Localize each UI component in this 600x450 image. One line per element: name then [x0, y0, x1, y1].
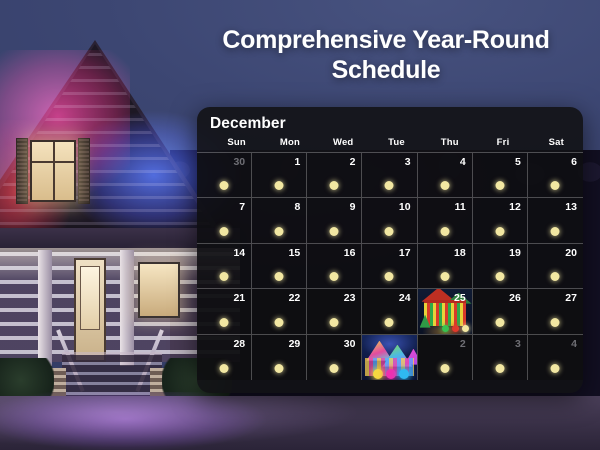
day-number: 3: [405, 156, 411, 168]
schedule-event-dot: [440, 272, 449, 281]
calendar-day-cell[interactable]: 9: [307, 198, 362, 243]
day-number: 21: [233, 292, 245, 304]
calendar-day-cell[interactable]: 10: [362, 198, 417, 243]
schedule-event-dot: [551, 318, 560, 327]
day-number: 22: [289, 292, 301, 304]
day-number: 8: [294, 201, 300, 213]
day-number: 20: [565, 247, 577, 259]
calendar-day-cell[interactable]: 3: [473, 335, 528, 380]
day-number: 15: [289, 247, 301, 259]
upper-window: [30, 140, 76, 202]
schedule-event-dot: [220, 364, 229, 373]
calendar-day-cell[interactable]: 6: [528, 153, 583, 198]
calendar-day-cell[interactable]: 25: [418, 289, 473, 334]
schedule-event-dot: [220, 272, 229, 281]
day-header-fri: Fri: [476, 137, 529, 148]
day-number: 12: [509, 201, 521, 213]
schedule-event-dot: [330, 364, 339, 373]
new-year-house-thumbnail: [362, 335, 416, 380]
xmas-light-green: [442, 325, 449, 332]
schedule-event-dot: [275, 318, 284, 327]
calendar-grid[interactable]: 3012345678910111213141516171819202122232…: [197, 152, 583, 380]
page-title-line-1: Comprehensive Year-Round: [180, 26, 592, 56]
day-number: 3: [515, 338, 521, 350]
schedule-event-dot: [220, 227, 229, 236]
day-header-tue: Tue: [370, 137, 423, 148]
day-number: 18: [454, 247, 466, 259]
calendar-day-cell[interactable]: 29: [252, 335, 307, 380]
calendar-day-cell[interactable]: 2: [418, 335, 473, 380]
day-number: 27: [565, 292, 577, 304]
schedule-event-dot: [440, 227, 449, 236]
day-number: 4: [571, 338, 577, 350]
day-of-week-row: SunMonWedTueThuFriSat: [210, 137, 583, 152]
schedule-event-dot: [275, 364, 284, 373]
xmas-light-red: [452, 325, 459, 332]
day-number: 1: [294, 156, 300, 168]
calendar-day-cell[interactable]: 1: [252, 153, 307, 198]
purple-ground-glow: [0, 392, 330, 450]
schedule-event-dot: [275, 272, 284, 281]
schedule-event-dot: [495, 272, 504, 281]
nye-light-cyan: [399, 369, 409, 379]
lower-window-right: [138, 262, 180, 318]
day-number: 7: [239, 201, 245, 213]
day-header-thu: Thu: [423, 137, 476, 148]
porch-column-right: [120, 250, 134, 366]
calendar-day-cell[interactable]: 28: [197, 335, 252, 380]
day-number: 25: [454, 292, 466, 304]
upper-window-shutter-right: [78, 138, 90, 204]
schedule-event-dot: [275, 181, 284, 190]
day-number: 29: [289, 338, 301, 350]
schedule-event-dot: [330, 181, 339, 190]
calendar-day-cell[interactable]: 27: [528, 289, 583, 334]
calendar-day-cell[interactable]: 24: [362, 289, 417, 334]
calendar-day-cell[interactable]: 18: [418, 244, 473, 289]
calendar-day-cell[interactable]: 14: [197, 244, 252, 289]
schedule-event-dot: [385, 272, 394, 281]
schedule-event-dot: [495, 181, 504, 190]
day-header-sat: Sat: [530, 137, 583, 148]
day-number: 4: [460, 156, 466, 168]
day-number: 5: [515, 156, 521, 168]
day-number: 2: [350, 156, 356, 168]
day-number: 6: [571, 156, 577, 168]
calendar-day-cell[interactable]: 12: [473, 198, 528, 243]
schedule-event-dot: [385, 318, 394, 327]
calendar-day-cell[interactable]: 3: [362, 153, 417, 198]
page-title: Comprehensive Year-Round Schedule: [180, 26, 592, 85]
schedule-event-dot: [551, 181, 560, 190]
calendar-day-cell[interactable]: 4: [528, 335, 583, 380]
schedule-event-dot: [551, 272, 560, 281]
day-number: 30: [344, 338, 356, 350]
schedule-event-dot: [275, 227, 284, 236]
day-number: 17: [399, 247, 411, 259]
calendar-day-cell[interactable]: 19: [473, 244, 528, 289]
nye-light-yellow: [373, 369, 383, 379]
day-number: 24: [399, 292, 411, 304]
calendar-day-cell[interactable]: 13: [528, 198, 583, 243]
calendar-panel[interactable]: December SunMonWedTueThuFriSat 301234567…: [197, 107, 583, 393]
day-number: 10: [399, 201, 411, 213]
calendar-month-label: December: [210, 115, 583, 133]
schedule-event-dot: [330, 227, 339, 236]
calendar-day-cell[interactable]: 30: [197, 153, 252, 198]
calendar-day-cell[interactable]: 7: [197, 198, 252, 243]
day-number: 14: [233, 247, 245, 259]
calendar-day-cell[interactable]: 8: [252, 198, 307, 243]
calendar-day-cell[interactable]: 15: [252, 244, 307, 289]
calendar-day-cell[interactable]: 22: [252, 289, 307, 334]
schedule-event-dot: [385, 181, 394, 190]
day-header-mon: Mon: [263, 137, 316, 148]
schedule-event-dot: [220, 181, 229, 190]
calendar-day-cell[interactable]: 20: [528, 244, 583, 289]
day-number: 2: [460, 338, 466, 350]
upper-window-shutter-left: [16, 138, 28, 204]
xmas-light-cream: [462, 325, 469, 332]
calendar-day-cell[interactable]: 26: [473, 289, 528, 334]
porch-column-left: [38, 250, 52, 366]
calendar-day-cell[interactable]: 16: [307, 244, 362, 289]
day-number: 30: [233, 156, 245, 168]
day-number: 9: [350, 201, 356, 213]
nye-light-magenta: [386, 369, 396, 379]
calendar-day-cell[interactable]: 5: [473, 153, 528, 198]
schedule-event-dot: [495, 364, 504, 373]
calendar-day-cell[interactable]: 17: [362, 244, 417, 289]
day-number: 16: [344, 247, 356, 259]
day-number: 19: [509, 247, 521, 259]
calendar-day-cell[interactable]: 4: [418, 153, 473, 198]
schedule-event-dot: [385, 227, 394, 236]
day-number: 26: [509, 292, 521, 304]
day-number: 13: [565, 201, 577, 213]
schedule-event-dot: [495, 227, 504, 236]
calendar-day-cell[interactable]: 21: [197, 289, 252, 334]
day-number: 28: [233, 338, 245, 350]
calendar-day-cell[interactable]: 11: [418, 198, 473, 243]
day-number: 23: [344, 292, 356, 304]
day-header-wed: Wed: [317, 137, 370, 148]
day-header-sun: Sun: [210, 137, 263, 148]
calendar-day-cell[interactable]: [362, 335, 417, 380]
schedule-event-dot: [551, 227, 560, 236]
schedule-event-dot: [440, 364, 449, 373]
calendar-day-cell[interactable]: 23: [307, 289, 362, 334]
schedule-event-dot: [495, 318, 504, 327]
page-title-line-2: Schedule: [180, 56, 592, 86]
schedule-event-dot: [220, 318, 229, 327]
schedule-event-dot: [551, 364, 560, 373]
schedule-event-dot: [440, 181, 449, 190]
day-number: 11: [455, 201, 466, 213]
calendar-day-cell[interactable]: 30: [307, 335, 362, 380]
front-door: [74, 258, 106, 362]
calendar-day-cell[interactable]: 2: [307, 153, 362, 198]
schedule-event-dot: [330, 272, 339, 281]
schedule-event-dot: [330, 318, 339, 327]
calendar-header: December SunMonWedTueThuFriSat: [197, 107, 583, 152]
